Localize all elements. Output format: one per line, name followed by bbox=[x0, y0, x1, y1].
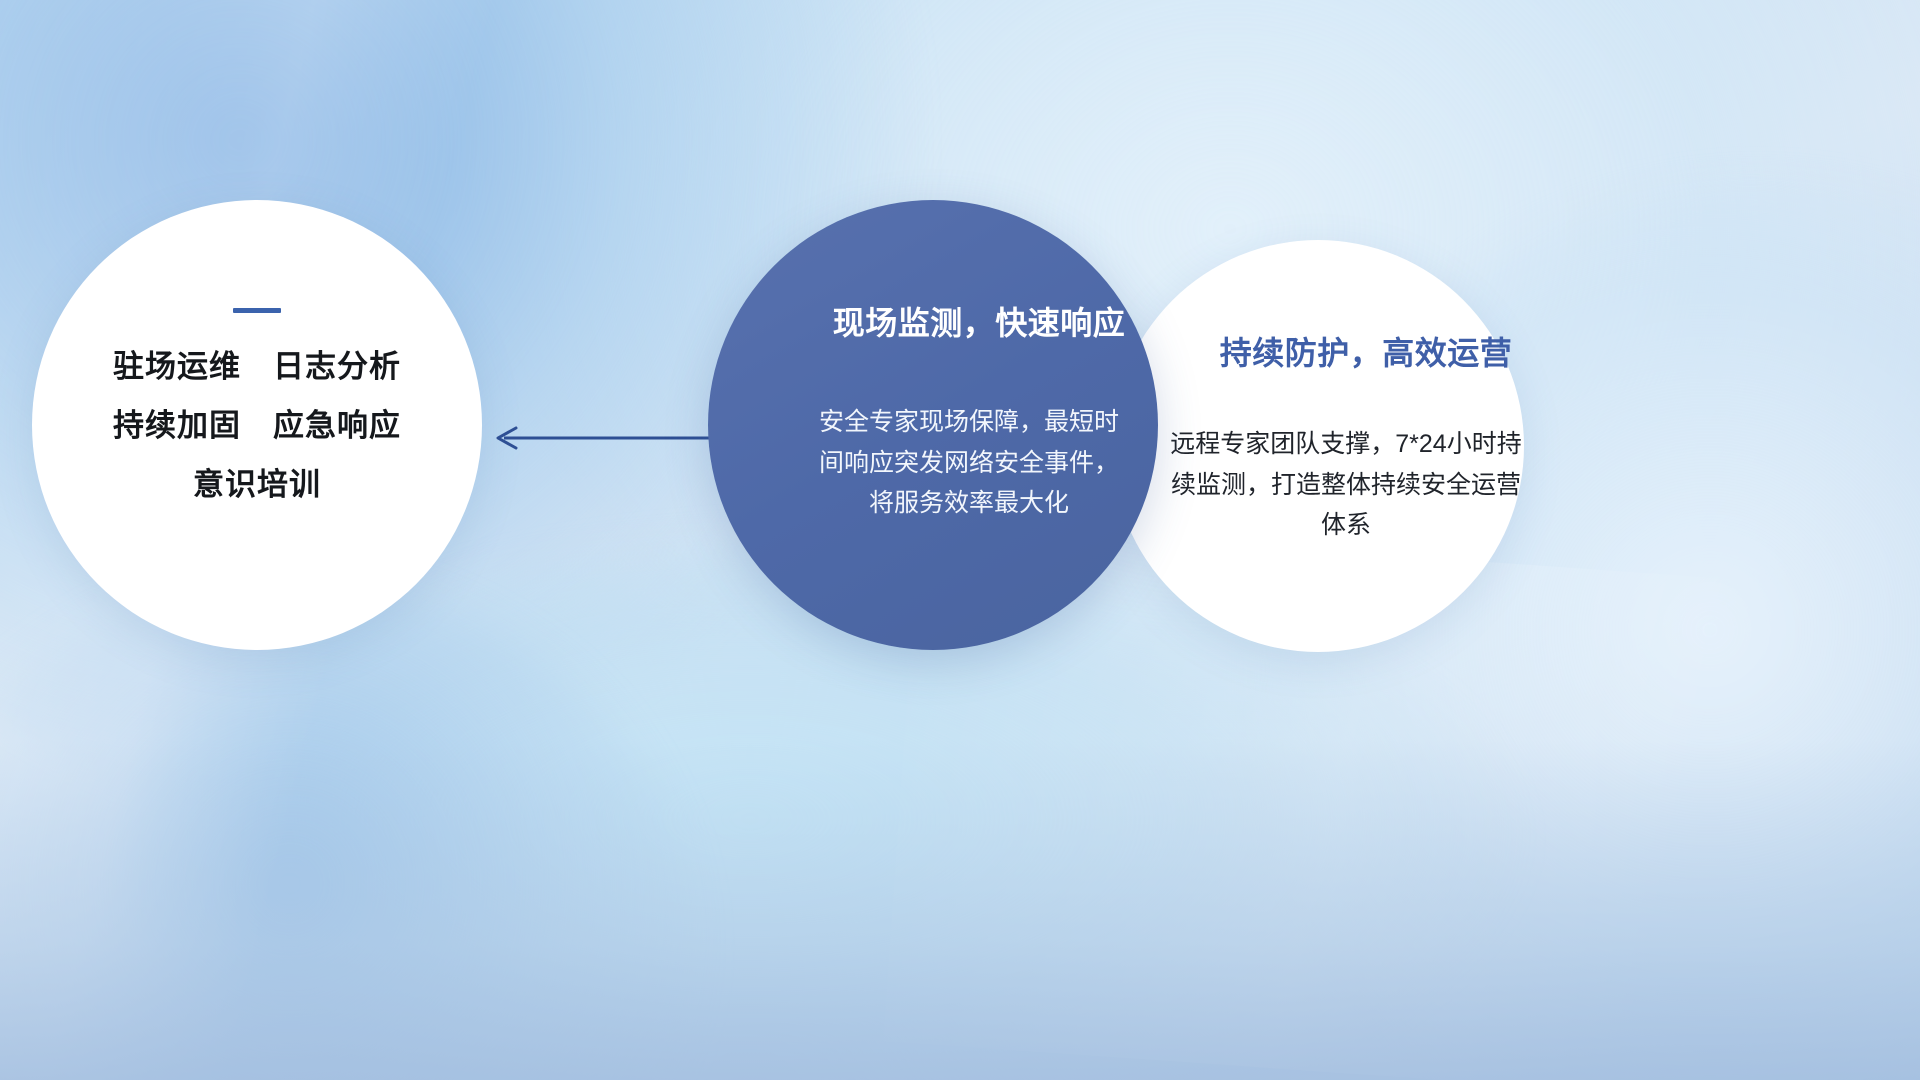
background-bottom-fade bbox=[0, 740, 1920, 1080]
connector-arrow bbox=[488, 418, 718, 458]
right-operations-circle: 持续防护，高效运营 远程专家团队支撑，7*24小时持续监测，打造整体持续安全运营… bbox=[1112, 240, 1524, 652]
mid-circle-title: 现场监测，快速响应 bbox=[833, 298, 1126, 344]
right-circle-body: 远程专家团队支撑，7*24小时持续监测，打造整体持续安全运营体系 bbox=[1161, 424, 1531, 546]
keyword-line-1: 驻场运维 日志分析 bbox=[113, 351, 401, 382]
mid-onsite-circle: 现场监测，快速响应 安全专家现场保障，最短时间响应突发网络安全事件，将服务效率最… bbox=[708, 200, 1158, 650]
keyword-line-2: 持续加固 应急响应 bbox=[113, 410, 401, 441]
divider-dash bbox=[233, 308, 281, 313]
right-circle-title: 持续防护，高效运营 bbox=[1220, 328, 1513, 374]
arrow-left-icon bbox=[488, 418, 718, 458]
keyword-line-3: 意识培训 bbox=[193, 469, 321, 500]
mid-circle-body: 安全专家现场保障，最短时间响应突发网络安全事件，将服务效率最大化 bbox=[819, 402, 1119, 524]
left-capability-circle: 驻场运维 日志分析 持续加固 应急响应 意识培训 bbox=[32, 200, 482, 650]
